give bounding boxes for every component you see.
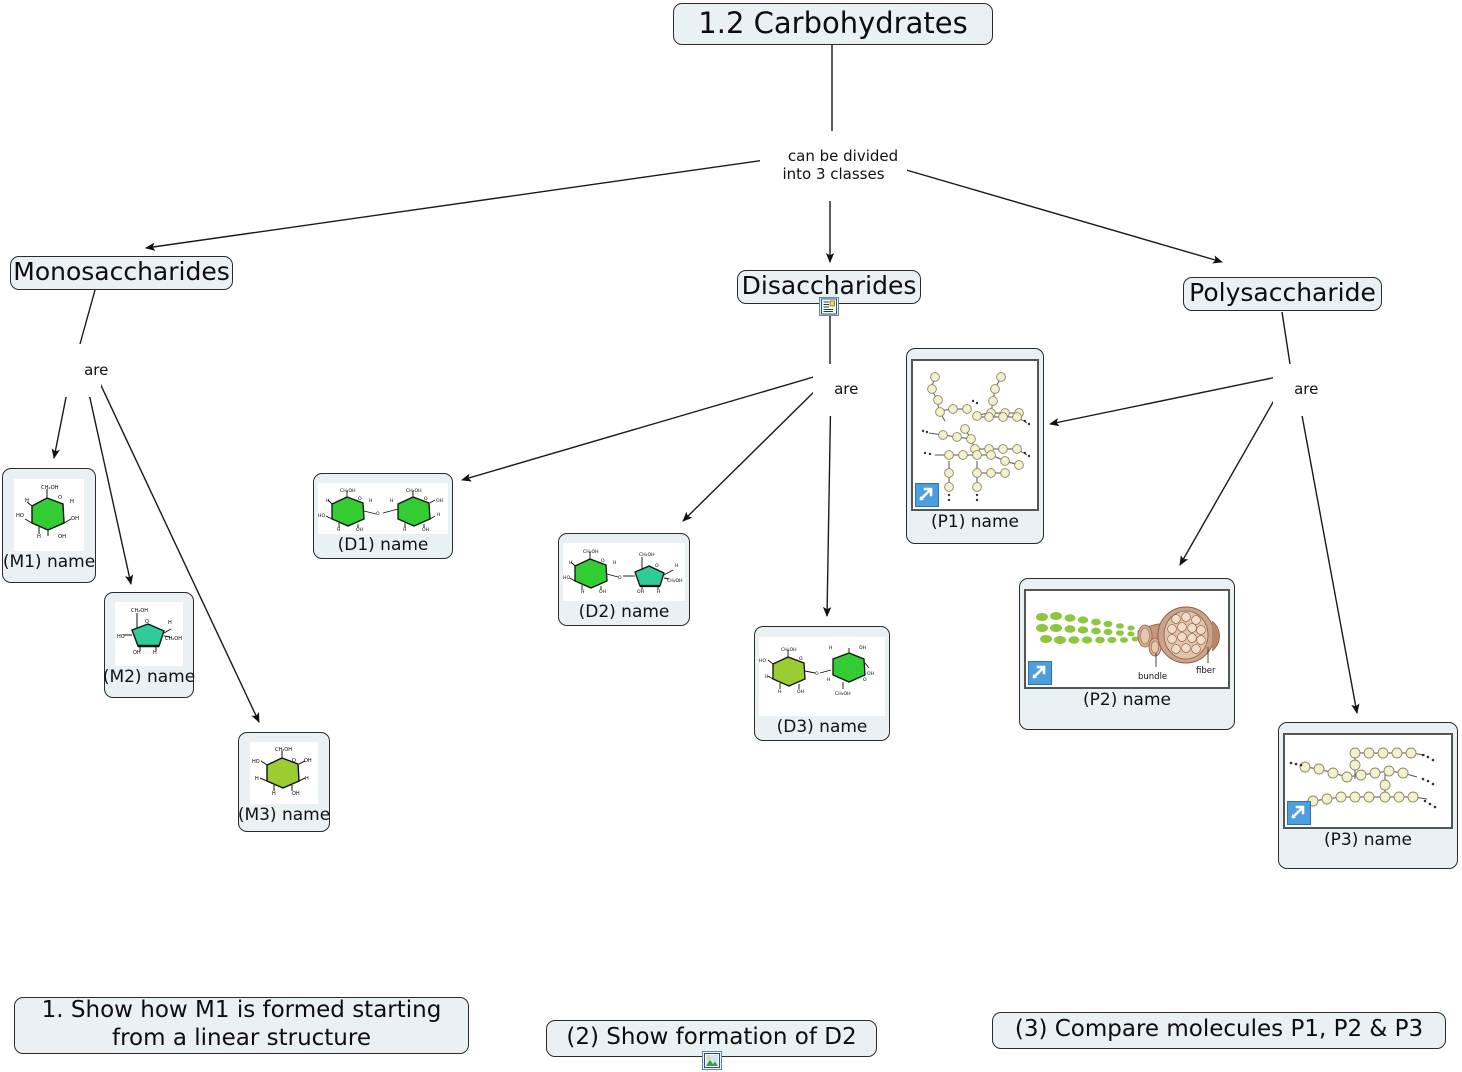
svg-text:H: H [305,776,309,782]
m2-caption: (M2) name [100,666,198,688]
svg-text:OH: OH [637,589,644,595]
svg-text:HO: HO [318,513,325,519]
m2-structure-image: CH₂OH O H HO HO CH₂OH OH H [115,602,183,666]
m1-caption: (M1) name [0,551,98,573]
p1-resource-link-icon[interactable] [915,483,939,507]
m1-structure-image: CH₂OH H O H HO H OH H OH H OH [14,479,84,551]
svg-text:OH: OH [71,516,79,522]
svg-text:OH: OH [859,645,866,651]
svg-text:O: O [376,511,380,517]
p2-cellulose-fiber-image: bundle fiber [1024,589,1230,689]
svg-text:HO: HO [563,575,570,581]
svg-text:CH₂OH: CH₂OH [583,549,599,555]
monosaccharides-label: Monosaccharides [13,258,230,286]
svg-text:O: O [863,677,867,683]
image-node-p2[interactable]: bundle fiber (P2) name [1019,578,1235,730]
root-label: 1.2 Carbohydrates [698,7,967,39]
svg-text:H: H [613,560,616,566]
image-node-d2[interactable]: CH₂OHCH₂OH HOH OH H HOOHH OHOCH₂OH HOH O… [558,533,690,626]
svg-text:CH₂OH: CH₂OH [41,485,59,491]
svg-text:OH: OH [58,534,66,540]
svg-text:HO: HO [759,658,766,664]
svg-text:O: O [618,575,622,581]
svg-text:O: O [655,563,659,569]
image-node-d3[interactable]: CH₂OH HOH HOO H OHH OHH H O H OH O HOH C… [754,626,890,741]
d2-structure-image: CH₂OHCH₂OH HOH OH H HOOHH OHOCH₂OH HOH O… [563,543,685,601]
concept-node-monosaccharides[interactable]: Monosaccharides [10,256,233,290]
svg-text:HO: HO [16,513,24,519]
svg-text:CH₂OH: CH₂OH [131,608,148,614]
image-node-p1[interactable]: (P1) name [906,348,1044,544]
svg-text:H: H [657,589,660,595]
svg-text:CH₂OH: CH₂OH [275,747,292,753]
task-1-label: 1. Show how M1 is formed starting from a… [25,997,458,1051]
svg-text:H: H [70,499,74,505]
are-mono-text: are [84,361,108,379]
task-2-label: (2) Show formation of D2 [566,1024,856,1051]
svg-text:OH: OH [422,527,429,533]
link-label-divided-text: can be divided into 3 classes [782,147,898,182]
svg-text:OH: OH [867,671,874,677]
svg-text:CH₂OH: CH₂OH [667,578,683,584]
d3-caption: (D3) name [774,716,871,738]
link-label-are-di: are [813,364,851,416]
polysaccharide-label: Polysaccharide [1189,279,1376,307]
disaccharides-label: Disaccharides [742,272,917,300]
svg-text:H: H [778,689,781,695]
p1-caption: (P1) name [928,511,1022,533]
note-resource-icon[interactable] [819,297,839,316]
svg-text:H: H [765,674,768,680]
svg-text:OH: OH [304,758,312,764]
are-poly-text: are [1294,380,1318,398]
svg-text:H: H [829,645,832,651]
svg-text:H: H [827,677,830,683]
task-node-1[interactable]: 1. Show how M1 is formed starting from a… [14,997,469,1054]
svg-text:CH₂OH: CH₂OH [340,488,356,494]
image-node-m1[interactable]: CH₂OH H O H HO H OH H OH H OH [2,468,96,583]
are-di-text: are [834,380,858,398]
svg-text:OH: OH [292,791,300,797]
link-label-are-poly: are [1273,364,1311,416]
m3-structure-image: CH₂OH HO O OH H H OH H H H OH [250,742,318,804]
svg-text:HO: HO [117,634,125,640]
p2-caption: (P2) name [1080,689,1174,711]
svg-text:OH: OH [599,589,606,595]
p2-label-fiber: fiber [1196,666,1216,676]
image-node-d1[interactable]: CH₂OHCH₂OH HOH HOOH HH HOOHH OOHH H HOH … [313,473,453,559]
svg-text:O: O [58,495,62,501]
p2-resource-link-icon[interactable] [1028,661,1052,685]
image-node-m2[interactable]: CH₂OH O H HO HO CH₂OH OH H [104,592,194,698]
svg-text:OH: OH [436,498,443,504]
picture-icon[interactable] [702,1051,722,1070]
p1-polymer-diagram [911,359,1039,511]
task-node-3[interactable]: (3) Compare molecules P1, P2 & P3 [992,1012,1446,1049]
svg-text:H: H [37,534,41,540]
svg-text:H: H [369,498,372,504]
svg-text:H: H [437,512,440,518]
d1-caption: (D1) name [335,534,432,556]
svg-text:HO: HO [252,759,260,765]
p3-resource-link-icon[interactable] [1287,801,1311,825]
link-label-are-mono: are [63,345,101,397]
concept-node-polysaccharide[interactable]: Polysaccharide [1183,277,1382,311]
svg-text:CH₂OH: CH₂OH [639,552,655,558]
svg-text:H: H [581,589,584,595]
link-label-divided: can be divided into 3 classes [760,131,907,201]
svg-text:H: H [390,498,393,504]
svg-text:CH₂OH: CH₂OH [406,488,422,494]
task-3-label: (3) Compare molecules P1, P2 & P3 [1015,1016,1423,1043]
svg-text:H: H [168,620,172,626]
concept-map-canvas: 1.2 Carbohydrates can be divided into 3 … [0,0,1462,1072]
image-node-m3[interactable]: CH₂OH HO O OH H H OH H H H OH [238,732,330,832]
concept-node-root[interactable]: 1.2 Carbohydrates [673,3,993,45]
svg-text:H: H [272,791,276,797]
svg-text:CH₂OH: CH₂OH [781,647,797,653]
svg-text:CH₂OH: CH₂OH [835,691,851,697]
connector-lines [0,0,1462,1072]
svg-text:O: O [815,671,819,677]
p3-polymer-diagram [1283,733,1453,829]
p2-label-bundle: bundle [1138,672,1167,682]
svg-text:H: H [255,776,259,782]
image-node-p3[interactable]: (P3) name [1278,722,1458,869]
svg-text:OH: OH [797,689,804,695]
p3-caption: (P3) name [1321,829,1415,851]
m3-caption: (M3) name [235,804,333,826]
d3-structure-image: CH₂OH HOH HOO H OHH OHH H O H OH O HOH C… [759,637,885,716]
d1-structure-image: CH₂OHCH₂OH HOH HOOH HH HOOHH OOHH H HOH … [318,483,448,534]
svg-text:H: H [675,563,678,569]
svg-text:OH: OH [356,527,363,533]
d2-caption: (D2) name [576,601,673,623]
